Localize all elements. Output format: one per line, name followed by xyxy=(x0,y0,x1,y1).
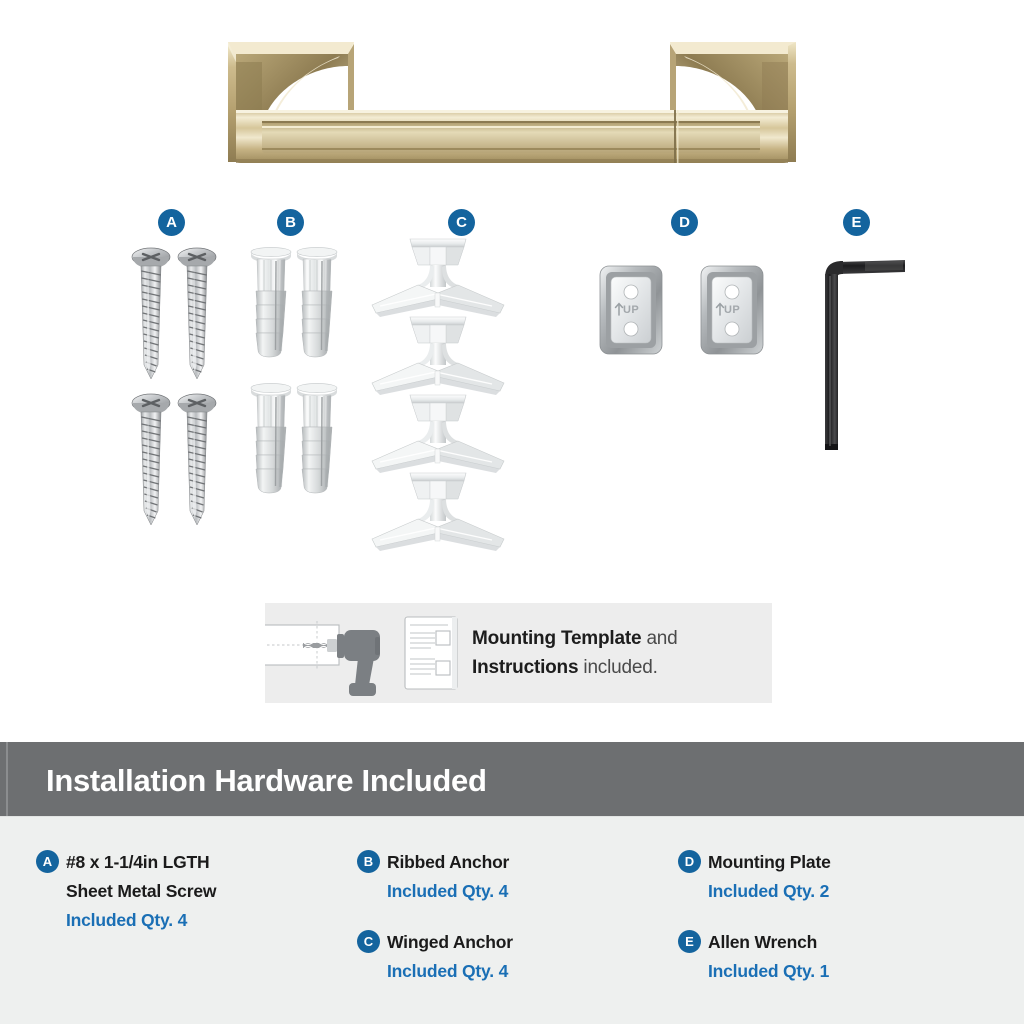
drill-and-template-illustration xyxy=(265,603,465,703)
mounting-template-bold: Mounting Template xyxy=(472,628,641,649)
list-item-name-line1: Ribbed Anchor xyxy=(387,848,509,877)
instructions-bold: Instructions xyxy=(472,657,578,678)
callout-badge-b: B xyxy=(277,209,304,236)
allen-wrench-illustration xyxy=(805,240,915,480)
product-hardware-sheet: A B C D E xyxy=(0,0,1024,1024)
list-item-qty: Included Qty. 1 xyxy=(708,957,829,986)
mounting-template-text: Mounting Template and Instructions inclu… xyxy=(472,625,678,682)
callout-badge-c: C xyxy=(448,209,475,236)
list-badge-e: E xyxy=(678,930,701,953)
list-item-name-line1: Mounting Plate xyxy=(708,848,831,877)
list-item-qty: Included Qty. 4 xyxy=(387,877,509,906)
list-badge-d: D xyxy=(678,850,701,873)
list-badge-a: A xyxy=(36,850,59,873)
list-item-name-line1: #8 x 1-1/4in LGTH xyxy=(66,848,216,877)
hardware-illustrations: A B C D E xyxy=(0,195,1024,585)
list-item-qty: Included Qty. 2 xyxy=(708,877,831,906)
product-image-area xyxy=(0,0,1024,195)
winged-anchors-illustration xyxy=(368,235,568,575)
callout-badge-a: A xyxy=(158,209,185,236)
towel-bar-rail xyxy=(236,110,788,163)
sheet-metal-screws-illustration xyxy=(128,243,248,593)
list-item-qty: Included Qty. 4 xyxy=(66,906,216,935)
page-title: Installation Hardware Included xyxy=(46,763,487,799)
list-panel-top-edge xyxy=(0,816,1024,817)
callout-badge-d: D xyxy=(671,209,698,236)
towel-bar-illustration xyxy=(222,22,802,172)
header-accent-rule xyxy=(6,742,8,816)
mounting-template-panel: Mounting Template and Instructions inclu… xyxy=(265,603,772,703)
mounting-plates-illustration: UP xyxy=(595,240,785,390)
instruction-page-icon xyxy=(405,617,457,689)
list-item-name-line1: Allen Wrench xyxy=(708,928,829,957)
callout-badge-e: E xyxy=(843,209,870,236)
instructions-included: included. xyxy=(578,657,657,678)
list-item-name-line2: Sheet Metal Screw xyxy=(66,877,216,906)
ribbed-anchors-illustration xyxy=(248,243,358,533)
list-item-name-line1: Winged Anchor xyxy=(387,928,513,957)
power-drill-icon xyxy=(337,630,380,696)
mounting-template-and: and xyxy=(641,628,677,649)
list-badge-c: C xyxy=(357,930,380,953)
list-badge-b: B xyxy=(357,850,380,873)
list-item-qty: Included Qty. 4 xyxy=(387,957,513,986)
